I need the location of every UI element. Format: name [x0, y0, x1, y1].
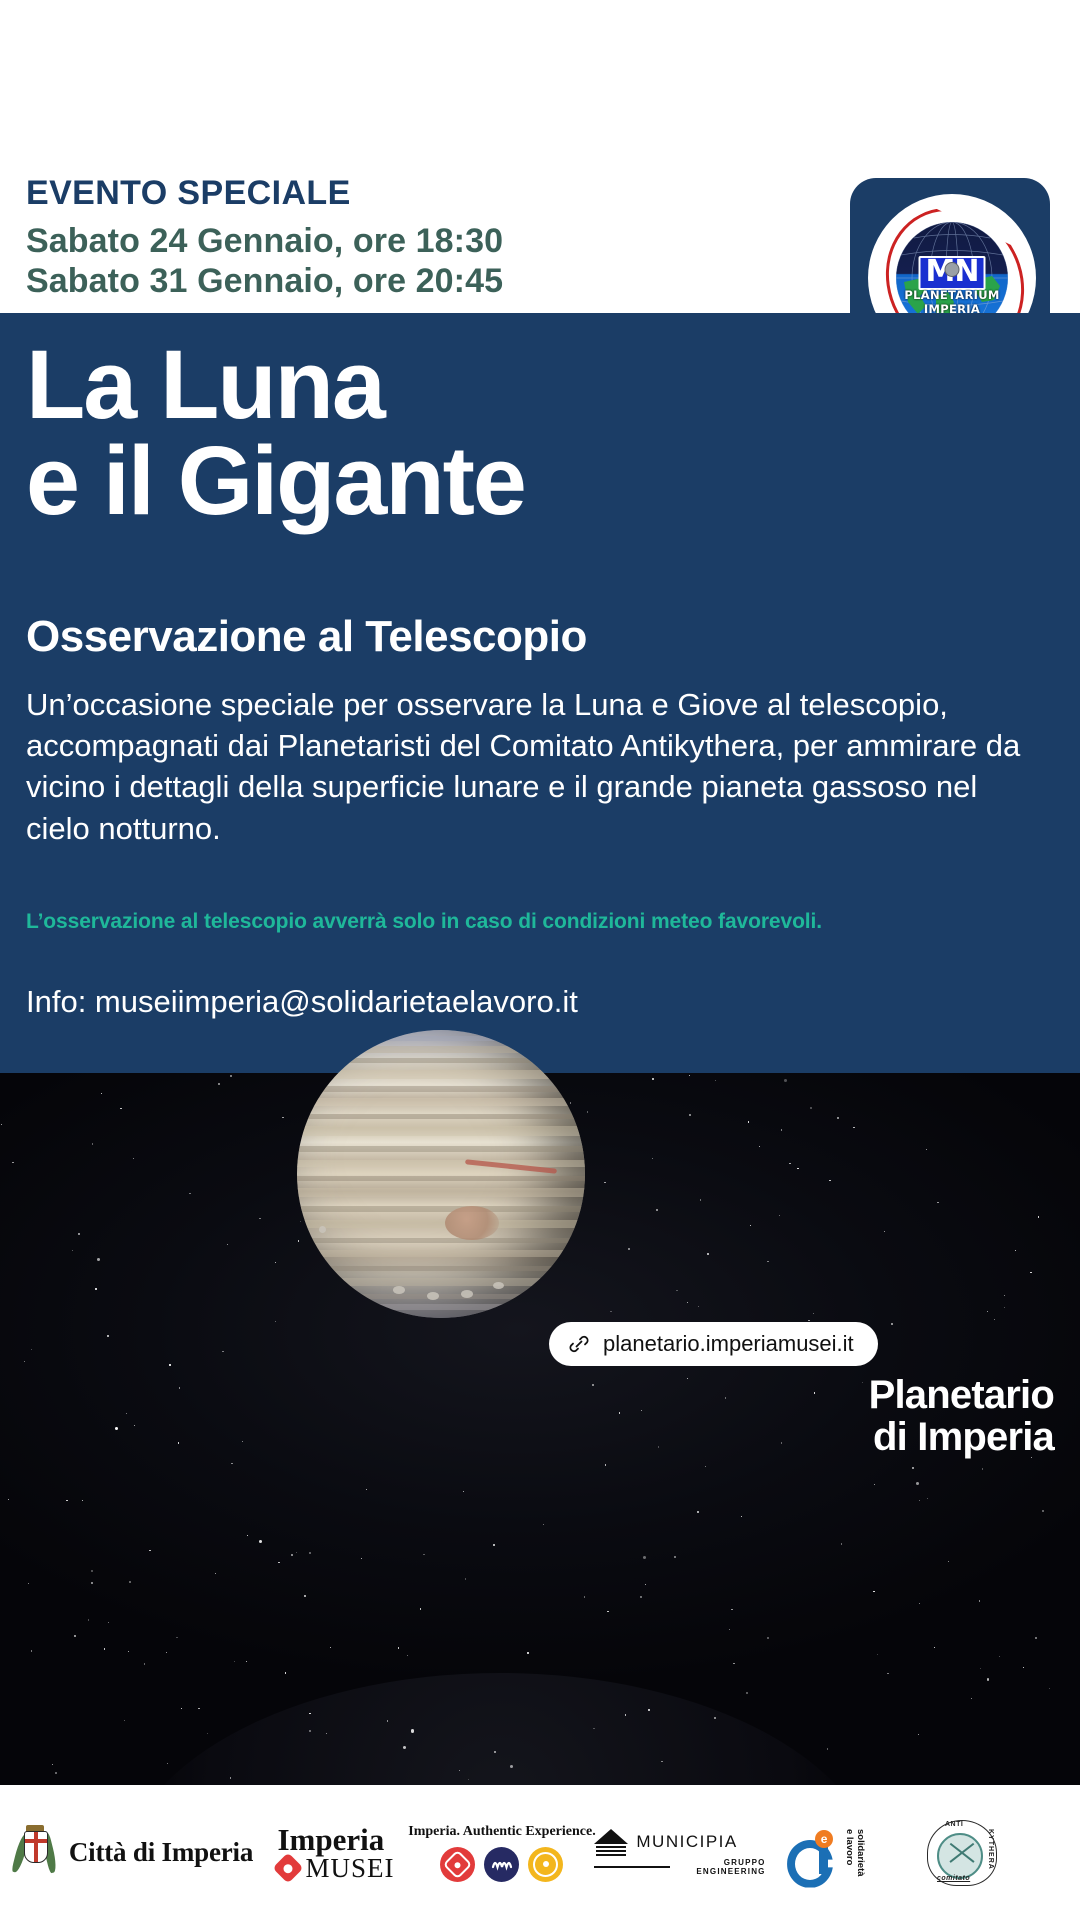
jupiter-planet: [297, 1030, 585, 1318]
shield-icon: [24, 1831, 48, 1863]
poster-root: EVENTO SPECIALE Sabato 24 Gennaio, ore 1…: [0, 0, 1080, 1920]
shield-cross-vertical: [34, 1832, 38, 1862]
website-url-pill[interactable]: planetario.imperiamusei.it: [549, 1322, 878, 1366]
municipia-subrow: GRUPPO ENGINEERING: [594, 1858, 765, 1876]
wordmark-line-1: Planetario: [869, 1374, 1054, 1416]
page-title-line-1: La Luna: [26, 337, 525, 433]
event-kicker: EVENTO SPECIALE: [26, 176, 351, 210]
logo-citta-di-imperia-label: Città di Imperia: [69, 1837, 253, 1868]
antikythera-bottom-label: comitato: [937, 1875, 970, 1882]
logo-municipia: MUNICIPIA GRUPPO ENGINEERING: [600, 1785, 760, 1920]
logo-comitato-antikythera: ANTI KYTHERA comitato: [892, 1785, 1032, 1920]
sdl-line-1: solidarietà: [855, 1829, 866, 1877]
contact-info: Info: museiimperia@solidarietaelavoro.it: [26, 984, 578, 1020]
authentic-experience-icons: [440, 1847, 563, 1882]
sdl-side-text: solidarietà e lavoro: [843, 1829, 865, 1877]
surface-speck-4: [461, 1290, 473, 1298]
event-date-2: Sabato 31 Gennaio, ore 20:45: [26, 262, 503, 302]
surface-speck-1: [319, 1226, 326, 1233]
event-date-1: Sabato 24 Gennaio, ore 18:30: [26, 222, 503, 262]
municipia-mark-icon: [594, 1829, 628, 1855]
municipia-row: MUNICIPIA: [594, 1829, 765, 1855]
antikythera-top-label: ANTI: [945, 1821, 963, 1828]
page-title: La Luna e il Gigante: [26, 337, 525, 529]
municipia-sublabel: GRUPPO ENGINEERING: [676, 1858, 766, 1876]
wordmark-line-2: di Imperia: [869, 1416, 1054, 1458]
diamond-circle-icon: [440, 1847, 475, 1882]
logo-citta-di-imperia: Città di Imperia: [0, 1785, 268, 1920]
sdl-mark-icon: e: [787, 1830, 839, 1876]
municipia-label: MUNICIPIA: [636, 1832, 737, 1852]
antikythera-right-label: KYTHERA: [987, 1829, 994, 1870]
sdl-e-badge: e: [815, 1830, 833, 1848]
waves-circle-icon: [484, 1847, 519, 1882]
imperia-musei-top: Imperia: [277, 1824, 394, 1855]
authentic-experience-group: Imperia. Authentic Experience.: [408, 1824, 595, 1882]
imperia-musei-bottom-row: MUSEI: [277, 1855, 394, 1882]
surface-speck-2: [393, 1286, 405, 1294]
municipia-rule: [594, 1866, 669, 1868]
great-red-spot: [445, 1206, 499, 1240]
page-subtitle: Osservazione al Telescopio: [26, 612, 587, 662]
shield-cross-horizontal: [25, 1839, 47, 1843]
weather-disclaimer: L’osservazione al telescopio avverrà sol…: [26, 910, 1066, 934]
coat-of-arms-icon: [15, 1825, 55, 1881]
sun-circle-icon: [528, 1847, 563, 1882]
surface-speck-3: [427, 1292, 439, 1300]
sdl-group: e solidarietà e lavoro: [787, 1829, 865, 1877]
website-url-text: planetario.imperiamusei.it: [603, 1331, 854, 1357]
logo-imperia-authentic-experience: Imperia. Authentic Experience.: [404, 1785, 600, 1920]
authentic-experience-label: Imperia. Authentic Experience.: [408, 1824, 595, 1840]
link-icon: [567, 1332, 591, 1356]
page-title-line-2: e il Gigante: [26, 433, 525, 529]
diamond-icon: [273, 1852, 304, 1883]
description-text: Un’occasione speciale per osservare la L…: [26, 684, 1046, 849]
antikythera-mark-icon: ANTI KYTHERA comitato: [927, 1820, 997, 1886]
surface-speck-5: [493, 1282, 504, 1289]
event-dates: Sabato 24 Gennaio, ore 18:30 Sabato 31 G…: [26, 222, 503, 302]
sdl-line-2: e lavoro: [844, 1829, 855, 1865]
municipia-group: MUNICIPIA GRUPPO ENGINEERING: [594, 1829, 765, 1876]
logo-solidarieta-e-lavoro: e solidarietà e lavoro: [760, 1785, 892, 1920]
logo-imperia-musei: Imperia MUSEI: [268, 1785, 404, 1920]
planetario-wordmark: Planetario di Imperia: [869, 1374, 1054, 1459]
imperia-musei-wordmark: Imperia MUSEI: [277, 1824, 394, 1882]
imperia-musei-bottom: MUSEI: [305, 1855, 394, 1882]
footer-logo-strip: Città di Imperia Imperia MUSEI Imperia. …: [0, 1785, 1080, 1920]
